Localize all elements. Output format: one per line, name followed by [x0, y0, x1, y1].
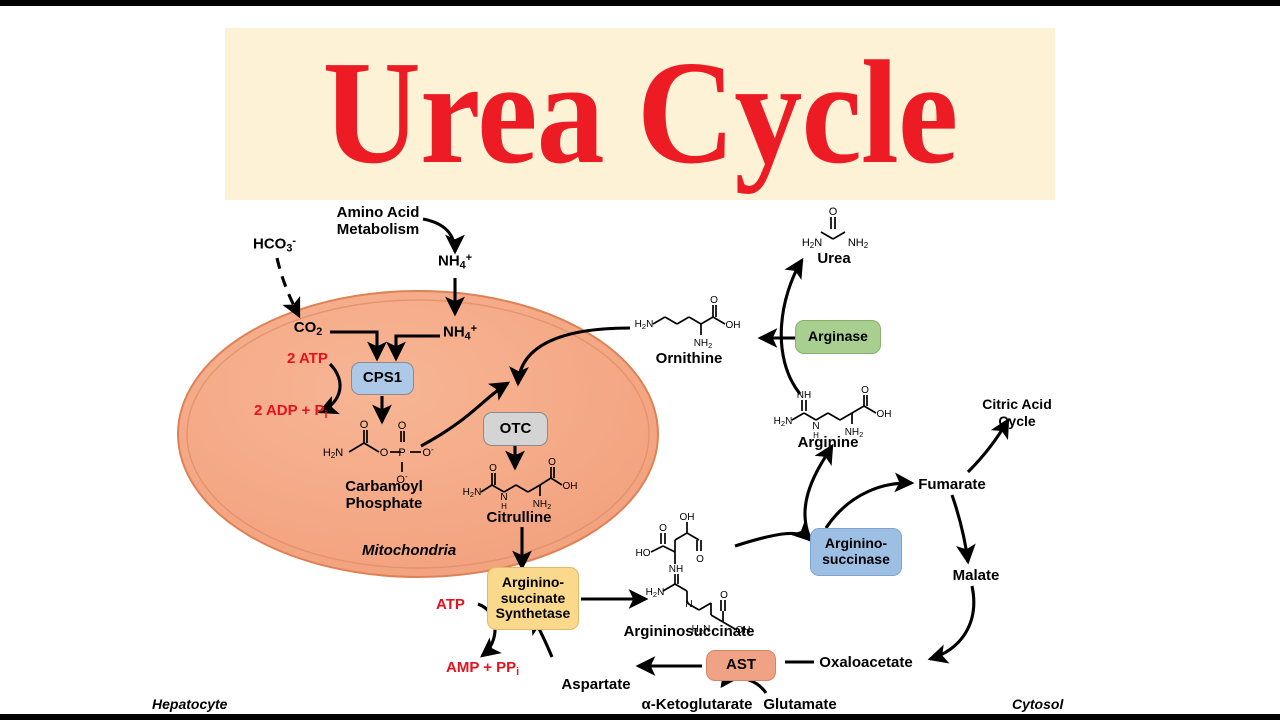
carbamoyl-line1: Carbamoyl	[345, 478, 423, 495]
ornithine-structure: H2N O OH NH2	[635, 295, 741, 350]
urea-structure: O H2N NH2	[802, 206, 869, 250]
argininosuccinate-structure: HO O OH O NH H2N N O OH H2N	[636, 512, 751, 636]
svg-text:OH: OH	[563, 481, 578, 492]
co2-base: CO	[294, 319, 317, 336]
enzyme-arginase-label: Arginase	[808, 329, 868, 345]
enzyme-otc[interactable]: OTC	[483, 412, 548, 446]
label-arginine: Arginine	[798, 434, 859, 451]
svg-text:OH: OH	[726, 320, 741, 331]
svg-text:H2N: H2N	[635, 319, 654, 331]
label-bicarbonate: HCO3-	[253, 235, 296, 255]
svg-text:O: O	[659, 523, 667, 534]
enzyme-cps1[interactable]: CPS1	[351, 362, 414, 395]
enzyme-ast-label: AST	[726, 657, 756, 674]
svg-text:NH2: NH2	[848, 237, 869, 250]
svg-text:NH2: NH2	[694, 338, 713, 350]
arginine-structure: H2N NH N H O OH NH2	[774, 385, 892, 440]
svg-text:O: O	[398, 420, 407, 432]
diagram-canvas: H2N O O O P O- O- H2N O N H O	[0, 6, 1280, 720]
label-amino-acid-metabolism: Amino Acid Metabolism	[337, 204, 420, 239]
urea-cycle-diagram: Urea Cycle	[0, 0, 1280, 720]
amino-acid-line1: Amino Acid	[337, 204, 420, 221]
carbamoyl-line2: Phosphate	[346, 495, 423, 512]
label-two-adp-pi: 2 ADP + Pi	[254, 402, 327, 421]
svg-text:H2N: H2N	[802, 237, 822, 250]
label-atp: ATP	[436, 596, 465, 613]
arrow-asl-to-fumarate	[826, 483, 912, 528]
svg-text:O: O	[829, 206, 838, 218]
mitochondria-shape	[178, 291, 658, 577]
label-mitochondria: Mitochondria	[362, 542, 456, 559]
hco3-base: HCO	[253, 236, 286, 253]
svg-text:OH: OH	[877, 409, 892, 420]
svg-text:O: O	[696, 554, 704, 565]
enzyme-ass-line3: Synthetase	[496, 606, 571, 622]
arrow-malate-to-oxaloacetate	[930, 586, 974, 659]
enzyme-arginase[interactable]: Arginase	[795, 320, 881, 354]
label-ammonium-outer: NH4+	[438, 252, 472, 272]
svg-text:O: O	[710, 295, 718, 306]
label-fumarate: Fumarate	[918, 476, 986, 493]
label-amp-ppi: AMP + PPi	[446, 659, 519, 678]
svg-text:NH: NH	[797, 390, 811, 401]
label-hepatocyte: Hepatocyte	[152, 696, 227, 712]
citric-line2: Cycle	[998, 413, 1035, 429]
svg-text:HO: HO	[636, 548, 651, 559]
enzyme-ast[interactable]: AST	[706, 650, 776, 681]
label-co2: CO2	[294, 319, 323, 338]
enzyme-asl-line1: Arginino-	[825, 536, 887, 552]
svg-text:OH: OH	[680, 512, 695, 523]
svg-text:H2N: H2N	[646, 587, 665, 599]
label-ornithine: Ornithine	[656, 350, 723, 367]
amp-base: AMP + PP	[446, 659, 516, 676]
arrow-aamet-to-nh4	[423, 219, 455, 252]
enzyme-cps1-label: CPS1	[363, 370, 402, 387]
label-argininosuccinate: Argininosuccinate	[624, 623, 755, 640]
label-cytosol: Cytosol	[1012, 696, 1063, 712]
enzyme-argininosuccinate-synthetase[interactable]: Arginino- succinate Synthetase	[487, 567, 579, 630]
amino-acid-line2: Metabolism	[337, 221, 420, 238]
label-glutamate: Glutamate	[763, 696, 836, 713]
enzyme-ass-line1: Arginino-	[502, 575, 564, 591]
label-citric-acid-cycle: Citric Acid Cycle	[982, 396, 1052, 430]
nh4-inner-base: NH	[443, 324, 465, 341]
label-ammonium-inner: NH4+	[443, 323, 477, 343]
svg-text:O: O	[861, 385, 869, 396]
enzyme-argininosuccinase[interactable]: Arginino- succinase	[810, 528, 902, 576]
label-citrulline: Citrulline	[486, 509, 551, 526]
svg-text:O: O	[720, 590, 728, 601]
two-adp-subscript: i	[324, 409, 327, 421]
enzyme-asl-line2: succinase	[822, 552, 890, 568]
hco3-superscript: -	[292, 235, 296, 247]
arrow-argsucc-to-asl	[735, 533, 810, 546]
enzyme-ass-line2: succinate	[501, 591, 566, 607]
label-malate: Malate	[953, 567, 1000, 584]
amp-subscript: i	[516, 666, 519, 678]
co2-subscript: 2	[316, 326, 322, 338]
enzyme-otc-label: OTC	[500, 421, 532, 438]
label-carbamoyl-phosphate: Carbamoyl Phosphate	[345, 478, 423, 512]
svg-text:O: O	[489, 463, 497, 474]
arrow-fumarate-to-malate	[952, 495, 968, 562]
two-adp-base: 2 ADP + P	[254, 402, 324, 419]
citric-line1: Citric Acid	[982, 396, 1052, 412]
label-two-atp: 2 ATP	[287, 350, 328, 367]
nh4-inner-superscript: +	[471, 323, 477, 335]
nh4-outer-superscript: +	[466, 252, 472, 264]
svg-text:O: O	[360, 419, 369, 431]
arrow-hco3-to-co2	[277, 258, 299, 316]
label-alpha-ketoglutarate: α-Ketoglutarate	[642, 696, 753, 713]
label-urea: Urea	[817, 250, 850, 267]
label-aspartate: Aspartate	[561, 676, 630, 693]
svg-text:N: N	[685, 599, 692, 610]
svg-text:NH: NH	[669, 564, 683, 575]
svg-text:O: O	[548, 457, 556, 468]
svg-text:P: P	[398, 447, 405, 459]
svg-text:O: O	[380, 447, 389, 459]
svg-text:H2N: H2N	[774, 416, 793, 428]
label-oxaloacetate: Oxaloacetate	[819, 654, 912, 671]
nh4-outer-base: NH	[438, 253, 460, 270]
